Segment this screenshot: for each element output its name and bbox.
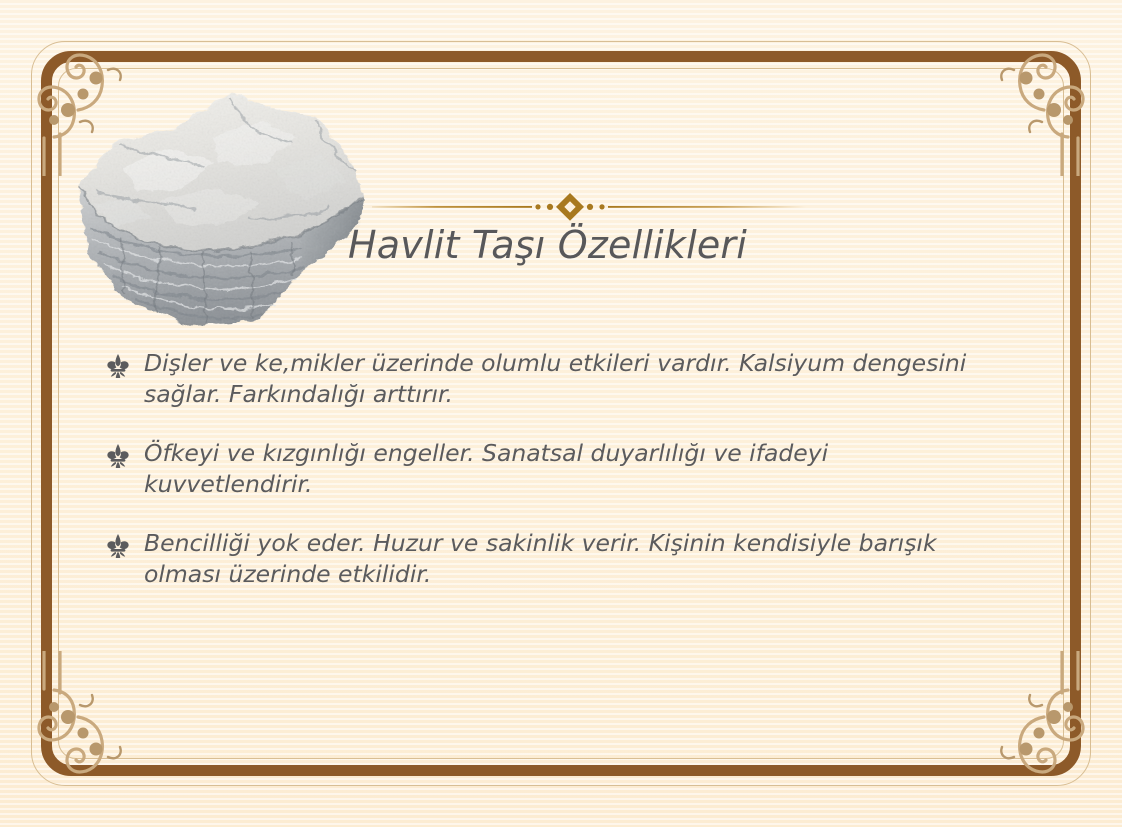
- list-item-text: Öfkeyi ve kızgınlığı engeller. Sanatsal …: [144, 439, 828, 498]
- list-item: Bencilliği yok eder. Huzur ve sakinlik v…: [100, 528, 1000, 590]
- fleur-de-lis-icon: [104, 352, 132, 380]
- list-item: Öfkeyi ve kızgınlığı engeller. Sanatsal …: [100, 438, 1000, 500]
- list-item: Dişler ve ke,mikler üzerinde olumlu etki…: [100, 348, 1000, 410]
- corner-ornament-bottom-left: [24, 651, 174, 801]
- fleur-de-lis-icon: [104, 532, 132, 560]
- page-title: Havlit Taşı Özellikleri: [330, 222, 810, 268]
- list-item-text: Bencilliği yok eder. Huzur ve sakinlik v…: [144, 529, 937, 588]
- ornamental-divider: [330, 186, 810, 222]
- fleur-de-lis-icon: [104, 442, 132, 470]
- properties-list: Dişler ve ke,mikler üzerinde olumlu etki…: [100, 348, 1000, 590]
- heading-block: Havlit Taşı Özellikleri: [330, 186, 810, 268]
- certificate-card: Havlit Taşı Özellikleri Dişler ve: [0, 0, 1122, 827]
- corner-ornament-bottom-right: [948, 651, 1098, 801]
- list-item-text: Dişler ve ke,mikler üzerinde olumlu etki…: [144, 349, 966, 408]
- corner-ornament-top-right: [948, 26, 1098, 176]
